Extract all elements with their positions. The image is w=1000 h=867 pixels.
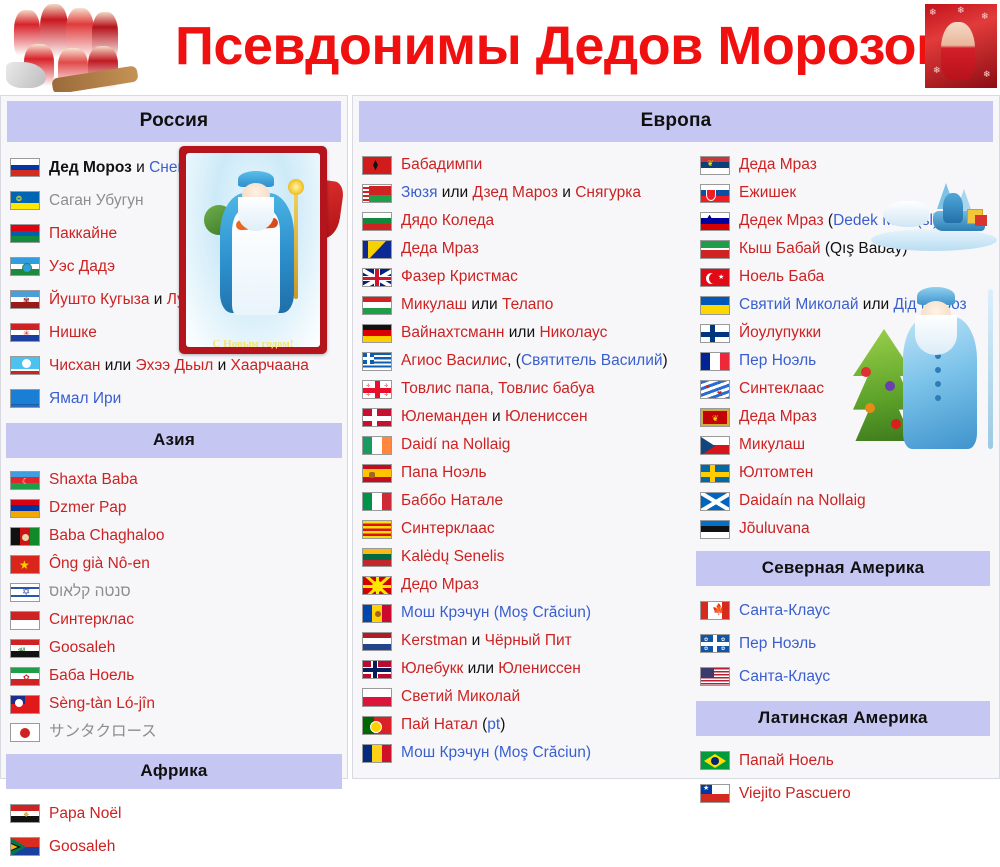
entry-text-part: и xyxy=(149,291,166,308)
united-kingdom-flag xyxy=(362,268,392,287)
list-item: Kalėdų Senelis xyxy=(353,543,691,571)
entry-text-part: Деда Мраз xyxy=(401,240,479,257)
list-item: Папай Ноель xyxy=(691,744,995,777)
asia-entry-list: ☾Shaxta BabaDzmer PapBaba Chaghaloo★Ông … xyxy=(1,460,347,750)
entry-text-part: Снягурка xyxy=(575,184,641,201)
entry-label: Daidaín na Nollaig xyxy=(730,492,866,510)
entry-label: Зюзя или Дзед Мароз и Снягурка xyxy=(392,184,641,202)
entry-text-part: или xyxy=(467,296,502,313)
entry-text-part: Дядо Коледа xyxy=(401,212,494,229)
list-item: ☾Shaxta Baba xyxy=(1,466,347,494)
entry-label: Ông già Nô-en xyxy=(40,555,150,573)
list-item: Дедо Мраз xyxy=(353,571,691,599)
list-item: Юлтомтен xyxy=(691,459,995,487)
entry-text-part: Юлебукк xyxy=(401,660,463,677)
entry-text-part: Viejito Pascuero xyxy=(739,785,851,802)
entry-label: Ежишек xyxy=(730,184,796,202)
entry-label: Вайнахтсманн или Николаус xyxy=(392,324,607,342)
entry-text-part: Юлеманден xyxy=(401,408,488,425)
entry-text-part: Baba Chaghaloo xyxy=(49,527,165,544)
entry-label: Нишке xyxy=(40,324,97,342)
section-title-africa: Африка xyxy=(6,754,342,789)
list-item: Baba Chaghaloo xyxy=(1,522,347,550)
entry-text-part: и xyxy=(488,408,505,425)
montenegro-flag: ❦ xyxy=(700,408,730,427)
entry-text-part: Баббо Натале xyxy=(401,492,503,509)
list-item: Санта-Клаус xyxy=(691,660,995,693)
entry-text-part: Николаус xyxy=(539,324,607,341)
list-item: ✿✿✿✿Пер Ноэль xyxy=(691,627,995,660)
entry-text-part: ( xyxy=(824,212,833,229)
indonesia-flag xyxy=(10,611,40,630)
entry-label: Sèng-tàn Ló-jîn xyxy=(40,695,155,713)
entry-text-part: Святий Миколай xyxy=(739,296,859,313)
estonia-flag xyxy=(700,520,730,539)
list-item: Дядо Коледа xyxy=(353,207,691,235)
entry-label: Синтеклаас xyxy=(730,380,824,398)
entry-text-part: Фазер Кристмас xyxy=(401,268,518,285)
serbia-flag: ❦ xyxy=(700,156,730,175)
list-item: ★Ông già Nô-en xyxy=(1,550,347,578)
entry-label: Деда Мраз xyxy=(730,408,817,426)
ireland-flag xyxy=(362,436,392,455)
japan-flag xyxy=(10,723,40,742)
entry-text-part: Деда Мраз xyxy=(739,156,817,173)
list-item: ✡סנטה קלאוס xyxy=(1,578,347,606)
list-item: ★Viejito Pascuero xyxy=(691,777,995,810)
ded-moroz-sleigh-illustration xyxy=(871,181,997,255)
netherlands-flag xyxy=(362,632,392,651)
entry-text-part: Деда Мраз xyxy=(739,408,817,425)
list-item: Kerstman и Чёрный Пит xyxy=(353,627,691,655)
israel-flag: ✡ xyxy=(10,583,40,602)
iran-flag: ✿ xyxy=(10,667,40,686)
entry-label: Ямал Ири xyxy=(40,390,121,408)
entry-text-part: Святитель Василий xyxy=(521,352,663,369)
list-item: Dzmer Pap xyxy=(1,494,347,522)
entry-text-part: Микулаш xyxy=(401,296,467,313)
list-item: Sèng-tàn Ló-jîn xyxy=(1,690,347,718)
entry-text-part: Jõuluvana xyxy=(739,520,810,537)
entry-text-part: Вайнахтсманн xyxy=(401,324,504,341)
list-item: ❖Papa Noël xyxy=(1,797,347,830)
entry-text-part: Агиос Василис xyxy=(401,352,507,369)
entry-text-part: Dzmer Pap xyxy=(49,499,127,516)
section-title-asia: Азия xyxy=(6,423,342,458)
list-item: Мош Крэчун (Moş Crăciun) xyxy=(353,739,691,767)
page-title: Псевдонимы Дедов Морозов xyxy=(175,14,895,78)
list-item: Мош Крэчун (Moş Crăciun) xyxy=(353,599,691,627)
entry-text-part: , ( xyxy=(507,352,521,369)
usa-flag xyxy=(700,667,730,686)
entry-label: Микулаш или Телапо xyxy=(392,296,553,314)
kabardino-balkaria-flag xyxy=(10,257,40,276)
entry-label: Ноель Баба xyxy=(730,268,824,286)
entry-text-part: pt xyxy=(487,716,500,733)
entry-text-part: Папа Ноэль xyxy=(401,464,487,481)
infographic-page: Псевдонимы Дедов Морозов ❄ ❄ ❄ ❄ ❄ Росси… xyxy=(0,0,1000,779)
entry-label: סנטה קלאוס xyxy=(40,583,131,601)
list-item: Синтерклас xyxy=(1,606,347,634)
azerbaijan-flag: ☾ xyxy=(10,471,40,490)
entry-label: Светий Миколай xyxy=(392,688,520,706)
entry-label: Синтерклас xyxy=(40,611,134,629)
entry-text-part: Daidí na Nollaig xyxy=(401,436,510,453)
entry-text-part: Ноель Баба xyxy=(739,268,824,285)
entry-text-part: Дзед Мароз xyxy=(472,184,557,201)
entry-label: Паккайне xyxy=(40,225,117,243)
entry-text-part: Мош Крэчун (Moş Crăciun) xyxy=(401,744,591,761)
entry-label: Baba Chaghaloo xyxy=(40,527,165,545)
entry-label: Дядо Коледа xyxy=(392,212,494,230)
russia-flag xyxy=(10,158,40,177)
karelia-flag xyxy=(10,224,40,243)
entry-label: Dzmer Pap xyxy=(40,499,127,517)
entry-text-part: или xyxy=(438,184,473,201)
list-item: サンタクロース xyxy=(1,718,347,746)
entry-label: Goosaleh xyxy=(40,838,115,856)
poland-flag xyxy=(362,688,392,707)
entry-text-part: Daidaín na Nollaig xyxy=(739,492,866,509)
mordovia-flag: ✳ xyxy=(10,323,40,342)
entry-label: Юлебукк или Юлениссен xyxy=(392,660,581,678)
mari-el-flag: ✾ xyxy=(10,290,40,309)
entry-label: Jõuluvana xyxy=(730,520,810,538)
entry-text-part: и xyxy=(132,159,149,176)
list-item: Светий Миколай xyxy=(353,683,691,711)
latin-america-entry-list: Папай Ноель★Viejito Pascuero xyxy=(691,738,995,814)
greece-flag xyxy=(362,352,392,371)
entry-text-part: Саган Убугун xyxy=(49,192,144,209)
ded-moroz-tree-illustration xyxy=(851,281,997,456)
entry-text-part: Goosaleh xyxy=(49,838,115,855)
catalonia-flag xyxy=(362,520,392,539)
entry-text-part: Чисхан xyxy=(49,357,101,374)
scotland-flag xyxy=(700,492,730,511)
entry-text-part: Ямал Ири xyxy=(49,390,121,407)
entry-text-part: Дедек Мраз xyxy=(739,212,824,229)
entry-text-part: סנטה קלאוס xyxy=(49,583,131,600)
section-title-europe: Европа xyxy=(359,101,993,142)
entry-text-part: Паккайне xyxy=(49,225,117,242)
entry-label: Пер Ноэль xyxy=(730,635,816,653)
entry-label: Goosaleh xyxy=(40,639,115,657)
entry-label: Агиос Василис, (Святитель Василий) xyxy=(392,352,668,370)
north-america-entry-list: 🍁Санта-Клаус✿✿✿✿Пер НоэльСанта-Клаус xyxy=(691,588,995,697)
entry-text-part: Юлениссен xyxy=(498,660,581,677)
left-column: Россия Дед Мороз и Снегурочка❂Саган Убуг… xyxy=(0,95,348,779)
entry-text-part: Мош Крэчун (Moş Crăciun) xyxy=(401,604,591,621)
entry-text-part: Пер Ноэль xyxy=(739,352,816,369)
entry-label: Баббо Натале xyxy=(392,492,503,510)
list-item: Агиос Василис, (Святитель Василий) xyxy=(353,347,691,375)
chile-flag: ★ xyxy=(700,784,730,803)
friesland-flag: ❤❤ xyxy=(700,380,730,399)
entry-label: Daidí na Nollaig xyxy=(392,436,510,454)
list-item: Баббо Натале xyxy=(353,487,691,515)
list-item: ❦Деда Мраз xyxy=(691,151,995,179)
romania-flag xyxy=(362,744,392,763)
canada-flag: 🍁 xyxy=(700,601,730,620)
afghanistan-flag xyxy=(10,527,40,546)
entry-text-part: Пай Натал xyxy=(401,716,478,733)
europe-column: Европа ⧫БабадимпиЗюзя или Дзед Мароз и С… xyxy=(352,95,1000,779)
iraq-flag: ﷲ xyxy=(10,639,40,658)
entry-label: Пай Натал (pt) xyxy=(392,716,505,734)
entry-text-part: Зюзя xyxy=(401,184,438,201)
quebec-flag: ✿✿✿✿ xyxy=(700,634,730,653)
entry-text-part: Юлениссен xyxy=(505,408,588,425)
entry-label: サンタクロース xyxy=(40,723,157,741)
entry-text-part: ( xyxy=(478,716,487,733)
norway-flag xyxy=(362,660,392,679)
entry-label: Баба Ноель xyxy=(40,667,134,685)
entry-text-part: Йоулупукки xyxy=(739,324,821,341)
belarus-flag xyxy=(362,184,392,203)
entry-label: Дедо Мраз xyxy=(392,576,479,594)
list-item: Daidaín na Nollaig xyxy=(691,487,995,515)
entry-label: Санта-Клаус xyxy=(730,668,830,686)
page-header: Псевдонимы Дедов Морозов ❄ ❄ ❄ ❄ ❄ xyxy=(0,0,1000,92)
entry-label: Папай Ноель xyxy=(730,752,834,770)
entry-text-part: サンタクロース xyxy=(49,723,157,740)
entry-label: Деда Мраз xyxy=(730,156,817,174)
list-item: Зюзя или Дзед Мароз и Снягурка xyxy=(353,179,691,207)
list-item: Юлеманден и Юлениссен xyxy=(353,403,691,431)
ded-moroz-poster-illustration: С Новым годом! xyxy=(179,146,327,354)
santa-girls-photo xyxy=(0,0,170,92)
entry-text-part: Kalėdų Senelis xyxy=(401,548,504,565)
germany-flag xyxy=(362,324,392,343)
entry-label: Товлис папа, Товлис бабуа xyxy=(392,380,595,398)
armenia-flag xyxy=(10,499,40,518)
santa-girl-photo: ❄ ❄ ❄ ❄ ❄ xyxy=(925,4,997,88)
macedonia-flag xyxy=(362,576,392,595)
entry-text-part: Товлис папа, Товлис бабуа xyxy=(401,380,595,397)
entry-text-part: Ежишек xyxy=(739,184,796,201)
buryatia-flag: ❂ xyxy=(10,191,40,210)
entry-label: Мош Крэчун (Moş Crăciun) xyxy=(392,604,591,622)
entry-text-part: или xyxy=(101,357,136,374)
entry-text-part: Kerstman xyxy=(401,632,467,649)
list-item: Ямал Ири xyxy=(1,382,347,415)
yamal-flag xyxy=(10,389,40,408)
list-item: Синтерклаас xyxy=(353,515,691,543)
portugal-flag xyxy=(362,716,392,735)
list-item: ✛✛✛✛Товлис папа, Товлис бабуа xyxy=(353,375,691,403)
entry-text-part: Эхээ Дьыл xyxy=(135,357,213,374)
vietnam-flag: ★ xyxy=(10,555,40,574)
africa-entry-list: ❖Papa NoëlGoosaleh xyxy=(1,791,347,867)
entry-text-part: Чёрный Пит xyxy=(485,632,572,649)
entry-text-part: Бабадимпи xyxy=(401,156,482,173)
albania-flag: ⧫ xyxy=(362,156,392,175)
list-item: Пай Натал (pt) xyxy=(353,711,691,739)
entry-label: Санта-Клаус xyxy=(730,602,830,620)
entry-label: Чисхан или Эхээ Дьыл и Хаарчаана xyxy=(40,357,309,375)
spain-flag xyxy=(362,464,392,483)
entry-label: Viejito Pascuero xyxy=(730,785,851,803)
list-item: Вайнахтсманн или Николаус xyxy=(353,319,691,347)
entry-text-part: Синтеклаас xyxy=(739,380,824,397)
yakutia-flag xyxy=(10,356,40,375)
list-item: ⧫Бабадимпи xyxy=(353,151,691,179)
entry-label: Папа Ноэль xyxy=(392,464,487,482)
entry-text-part: Синтерклаас xyxy=(401,520,495,537)
entry-label: Саган Убугун xyxy=(40,192,144,210)
entry-text-part: Дедо Мраз xyxy=(401,576,479,593)
egypt-flag: ❖ xyxy=(10,804,40,823)
entry-label: Papa Noël xyxy=(40,805,121,823)
entry-label: Kalėdų Senelis xyxy=(392,548,504,566)
slovenia-flag xyxy=(700,212,730,231)
entry-text-part: и xyxy=(467,632,484,649)
entry-label: Бабадимпи xyxy=(392,156,482,174)
list-item: Деда Мраз xyxy=(353,235,691,263)
entry-text-part: Юлтомтен xyxy=(739,464,813,481)
entry-text-part: Ông già Nô-en xyxy=(49,555,150,572)
entry-text-part: Синтерклас xyxy=(49,611,134,628)
moldova-flag xyxy=(362,604,392,623)
section-title-north-america: Северная Америка xyxy=(696,551,990,586)
entry-label: Kerstman и Чёрный Пит xyxy=(392,632,572,650)
entry-label: Йоулупукки xyxy=(730,324,821,342)
sweden-flag xyxy=(700,464,730,483)
entry-text-part: Папай Ноель xyxy=(739,752,834,769)
section-title-latin-america: Латинская Америка xyxy=(696,701,990,736)
slovakia-flag xyxy=(700,184,730,203)
entry-text-part: Goosaleh xyxy=(49,639,115,656)
lithuania-flag xyxy=(362,548,392,567)
entry-text-part: и xyxy=(558,184,575,201)
list-item: Daidí na Nollaig xyxy=(353,431,691,459)
turkey-flag: ★ xyxy=(700,268,730,287)
taiwan-flag xyxy=(10,695,40,714)
list-item: ✿Баба Ноель xyxy=(1,662,347,690)
entry-label: Уэс Дадэ xyxy=(40,258,115,276)
entry-label: Юлеманден и Юлениссен xyxy=(392,408,588,426)
entry-text-part: Санта-Клаус xyxy=(739,668,830,685)
entry-label: Деда Мраз xyxy=(392,240,479,258)
entry-text-part: Papa Noël xyxy=(49,805,121,822)
italy-flag xyxy=(362,492,392,511)
entry-text-part: или xyxy=(463,660,498,677)
bosnia-flag xyxy=(362,240,392,259)
entry-text-part: Хаарчаана xyxy=(231,357,309,374)
entry-text-part: Пер Ноэль xyxy=(739,635,816,652)
ukraine-flag xyxy=(700,296,730,315)
denmark-flag xyxy=(362,408,392,427)
poster-caption: С Новым годом! xyxy=(179,338,327,350)
entry-label: Фазер Кристмас xyxy=(392,268,518,286)
entry-text-part: ) xyxy=(663,352,668,369)
entry-text-part: Баба Ноель xyxy=(49,667,134,684)
entry-text-part: Дед Мороз xyxy=(49,159,132,176)
entry-label: Пер Ноэль xyxy=(730,352,816,370)
entry-label: Микулаш xyxy=(730,436,805,454)
entry-label: Юлтомтен xyxy=(730,464,813,482)
entry-text-part: Йушто Кугыза xyxy=(49,291,149,308)
entry-text-part: и xyxy=(213,357,230,374)
entry-label: Синтерклаас xyxy=(392,520,495,538)
entry-text-part: Телапо xyxy=(502,296,553,313)
brazil-flag xyxy=(700,751,730,770)
list-item: Jõuluvana xyxy=(691,515,995,543)
entry-label: Shaxta Baba xyxy=(40,471,138,489)
entry-text-part: Микулаш xyxy=(739,436,805,453)
entry-text-part: ) xyxy=(500,716,505,733)
entry-text-part: Кыш Бабай xyxy=(739,240,821,257)
entry-label: Мош Крэчун (Moş Crăciun) xyxy=(392,744,591,762)
list-item: Папа Ноэль xyxy=(353,459,691,487)
list-item: Микулаш или Телапо xyxy=(353,291,691,319)
hungary-flag xyxy=(362,296,392,315)
czech-flag xyxy=(700,436,730,455)
europe-left-entry-list: ⧫БабадимпиЗюзя или Дзед Мароз и Снягурка… xyxy=(353,145,691,771)
entry-text-part: или xyxy=(504,324,539,341)
entry-text-part: Светий Миколай xyxy=(401,688,520,705)
tatarstan-flag xyxy=(700,240,730,259)
entry-text-part: Санта-Клаус xyxy=(739,602,830,619)
entry-text-part: Уэс Дадэ xyxy=(49,258,115,275)
section-title-russia: Россия xyxy=(7,101,341,142)
bulgaria-flag xyxy=(362,212,392,231)
list-item: Goosaleh xyxy=(1,830,347,863)
list-item: Фазер Кристмас xyxy=(353,263,691,291)
list-item: Юлебукк или Юлениссен xyxy=(353,655,691,683)
entry-text-part: Shaxta Baba xyxy=(49,471,138,488)
georgia-flag: ✛✛✛✛ xyxy=(362,380,392,399)
list-item: ﷲGoosaleh xyxy=(1,634,347,662)
france-flag xyxy=(700,352,730,371)
finland-flag xyxy=(700,324,730,343)
list-item: 🍁Санта-Клаус xyxy=(691,594,995,627)
south-africa-flag xyxy=(10,837,40,856)
entry-text-part: Sèng-tàn Ló-jîn xyxy=(49,695,155,712)
entry-text-part: Нишке xyxy=(49,324,97,341)
